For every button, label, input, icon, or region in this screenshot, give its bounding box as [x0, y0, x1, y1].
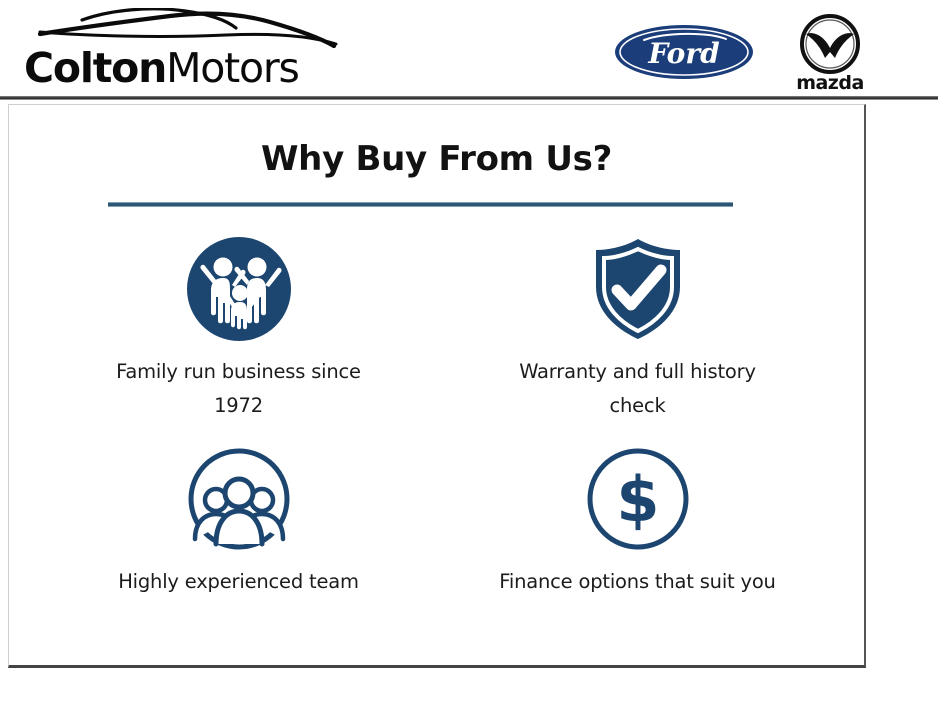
- feature-label: Highly experienced team: [94, 565, 384, 599]
- team-icon: [185, 445, 293, 553]
- feature-item-family[interactable]: Family run business since 1972: [39, 225, 438, 435]
- slide-page: ColtonMotors Ford mazda Why Buy From Us?: [0, 0, 938, 704]
- svg-text:$: $: [616, 463, 659, 536]
- shield-check-icon: [584, 235, 692, 343]
- page-header: ColtonMotors Ford mazda: [0, 0, 938, 98]
- ford-logo-icon[interactable]: Ford: [614, 24, 754, 80]
- page-title: Why Buy From Us?: [9, 139, 864, 179]
- svg-text:mazda: mazda: [796, 72, 864, 94]
- title-divider: [108, 202, 733, 207]
- feature-grid: Family run business since 1972 Warranty …: [39, 225, 837, 645]
- mazda-logo-icon[interactable]: mazda: [780, 14, 880, 96]
- feature-label: Warranty and full history check: [493, 355, 783, 423]
- colton-motors-logo[interactable]: ColtonMotors: [24, 6, 344, 92]
- feature-item-finance[interactable]: $ Finance options that suit you: [438, 435, 837, 645]
- feature-label: Finance options that suit you: [493, 565, 783, 599]
- feature-item-warranty[interactable]: Warranty and full history check: [438, 225, 837, 435]
- why-buy-panel: Why Buy From Us?: [8, 104, 866, 668]
- feature-label: Family run business since 1972: [94, 355, 384, 423]
- dollar-icon: $: [584, 445, 692, 553]
- brand-wordmark: ColtonMotors: [24, 42, 344, 94]
- family-icon: [185, 235, 293, 343]
- brand-name-light: Motors: [166, 44, 299, 92]
- svg-text:Ford: Ford: [647, 37, 719, 70]
- header-divider: [0, 96, 938, 100]
- feature-item-team[interactable]: Highly experienced team: [39, 435, 438, 645]
- brand-name-bold: Colton: [24, 44, 166, 92]
